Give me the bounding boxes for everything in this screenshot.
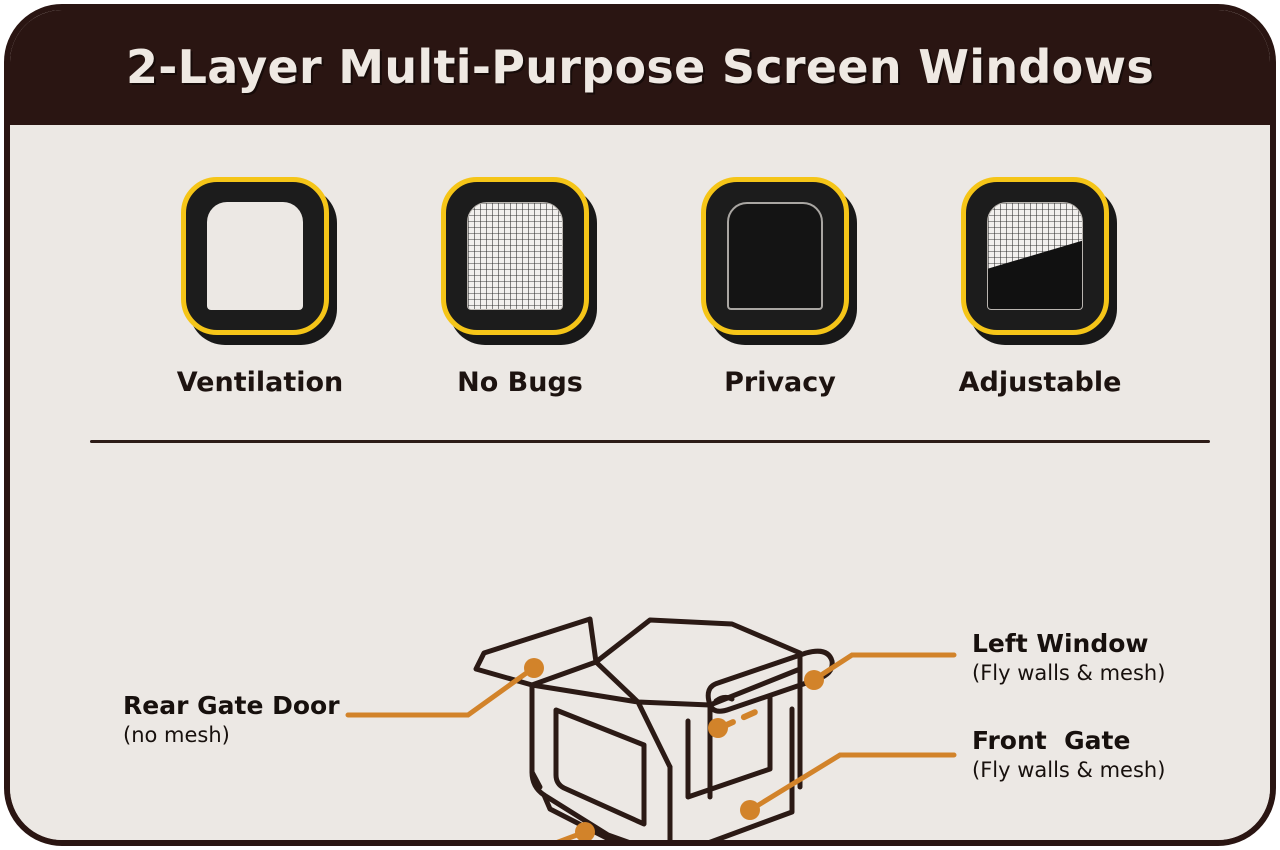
window-adjustable-icon bbox=[961, 177, 1119, 345]
callout-rear-gate-door: Rear Gate Door (no mesh) bbox=[123, 692, 340, 748]
dot-right-window bbox=[575, 822, 595, 842]
callout-subtitle: (Fly walls & mesh) bbox=[972, 660, 1165, 686]
poster-root: 2-Layer Multi-Purpose Screen Windows Ven… bbox=[0, 0, 1280, 850]
window-solid-panel-icon bbox=[701, 177, 859, 345]
window-mesh-icon bbox=[441, 177, 599, 345]
feature-ventilation[interactable]: Ventilation bbox=[160, 177, 360, 398]
feature-row: Ventilation No Bugs bbox=[160, 177, 1140, 398]
callout-left-window: Left Window (Fly walls & mesh) bbox=[972, 630, 1165, 686]
badge-frame bbox=[441, 177, 589, 335]
feature-label: No Bugs bbox=[457, 367, 583, 398]
leader-front-gate bbox=[752, 755, 954, 809]
carrier-top-face bbox=[596, 620, 800, 705]
pane-adjustable bbox=[987, 202, 1083, 310]
feature-adjustable[interactable]: Adjustable bbox=[940, 177, 1140, 398]
carrier-left-face bbox=[532, 685, 670, 846]
badge-frame bbox=[701, 177, 849, 335]
leader-left-window bbox=[815, 655, 954, 679]
dot-rear-gate bbox=[524, 658, 544, 678]
dot-front-gate bbox=[740, 800, 760, 820]
callout-front-gate: Front Gate (Fly walls & mesh) bbox=[972, 727, 1165, 783]
roll-up-flap bbox=[987, 239, 1083, 310]
pane-privacy bbox=[727, 202, 823, 310]
header-bar: 2-Layer Multi-Purpose Screen Windows bbox=[8, 8, 1272, 125]
right-window-opening bbox=[556, 710, 644, 824]
callout-title: Left Window bbox=[972, 630, 1165, 658]
feature-no-bugs[interactable]: No Bugs bbox=[420, 177, 620, 398]
callout-subtitle: (no mesh) bbox=[123, 722, 340, 748]
badge-frame bbox=[181, 177, 329, 335]
feature-label: Adjustable bbox=[959, 367, 1122, 398]
body-area: Ventilation No Bugs bbox=[10, 127, 1270, 840]
pane-mesh bbox=[467, 202, 563, 310]
badge-frame bbox=[961, 177, 1109, 335]
section-divider bbox=[90, 440, 1210, 443]
callout-subtitle: (Fly walls & mesh) bbox=[972, 757, 1165, 783]
feature-label: Ventilation bbox=[177, 367, 344, 398]
poster-card: 2-Layer Multi-Purpose Screen Windows Ven… bbox=[4, 4, 1276, 846]
callout-title: Rear Gate Door bbox=[123, 692, 340, 720]
window-open-icon bbox=[181, 177, 339, 345]
feature-label: Privacy bbox=[724, 367, 836, 398]
callout-title: Front Gate bbox=[972, 727, 1165, 755]
page-title: 2-Layer Multi-Purpose Screen Windows bbox=[126, 40, 1154, 94]
feature-privacy[interactable]: Privacy bbox=[680, 177, 880, 398]
carrier-line-art bbox=[476, 619, 832, 846]
dot-left-window bbox=[804, 670, 824, 690]
dot-zipper-start bbox=[708, 718, 728, 738]
leader-right-window bbox=[348, 832, 585, 846]
leader-lines bbox=[348, 655, 954, 846]
pane-open bbox=[207, 202, 303, 310]
